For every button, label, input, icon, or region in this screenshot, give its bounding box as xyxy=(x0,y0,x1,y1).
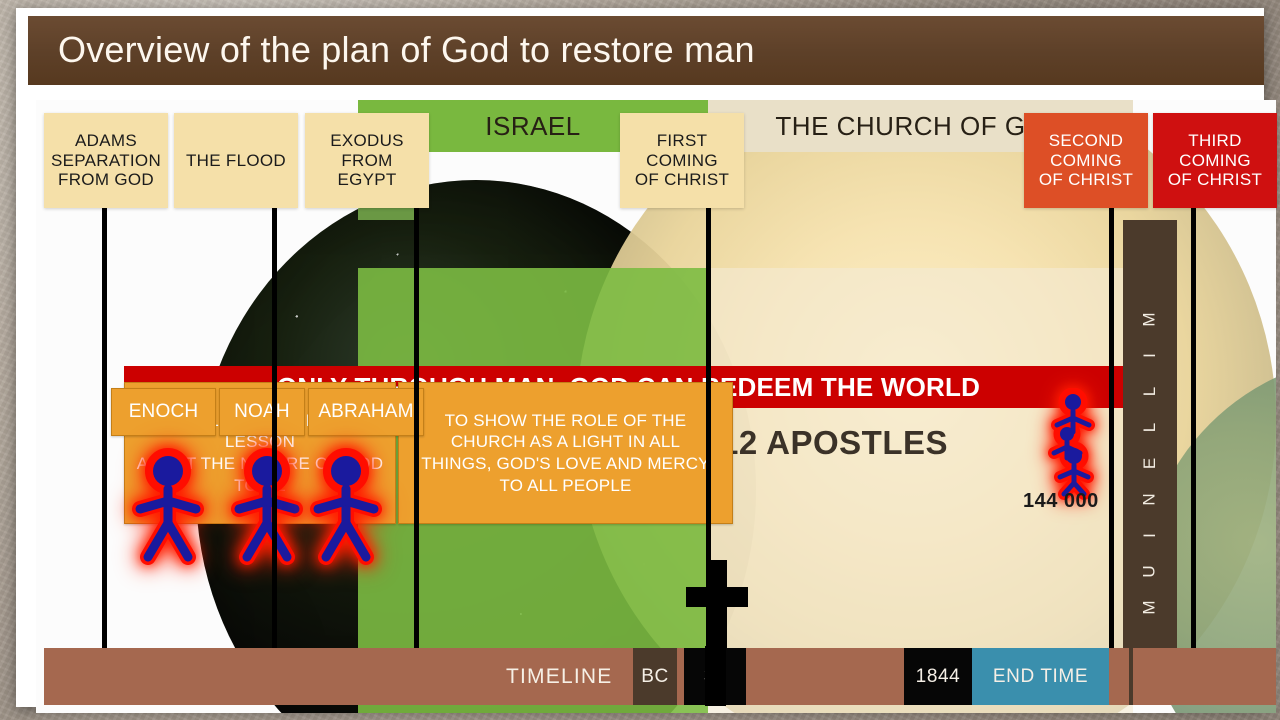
timeline-rule-flood xyxy=(272,128,277,705)
event-label-second-coming-of-christ: SECOND COMING OF CHRIST xyxy=(1039,131,1133,190)
era-label-israel: ISRAEL xyxy=(485,111,581,142)
event-label-third-coming-of-christ: THIRD COMING OF CHRIST xyxy=(1168,131,1262,190)
figure-abraham-icon xyxy=(308,445,384,567)
patriarch-label-abraham: ABRAHAM xyxy=(308,388,424,436)
event-box-first-coming-of-christ[interactable]: FIRST COMING OF CHRIST xyxy=(620,113,744,208)
timeline-rule-second-coming xyxy=(1109,128,1114,705)
millenium-letter: L xyxy=(1140,421,1160,431)
millenium-letter: I xyxy=(1140,352,1160,358)
millenium-letter: N xyxy=(1140,492,1160,505)
patriarch-label-noah: NOAH xyxy=(219,388,305,436)
patriarch-text-noah: NOAH xyxy=(234,400,290,424)
timeline-rule-third-coming xyxy=(1191,128,1196,705)
church-column-top xyxy=(708,268,1133,366)
timeline-segment-1844[interactable]: 1844 xyxy=(904,648,972,705)
figure-noah-icon xyxy=(229,445,305,567)
patriarch-label-enoch: ENOCH xyxy=(111,388,216,436)
timeline-rule-adams xyxy=(102,128,107,705)
timeline-label-end-time: END TIME xyxy=(993,666,1088,688)
event-box-second-coming-of-christ[interactable]: SECOND COMING OF CHRIST xyxy=(1024,113,1148,208)
page-title: Overview of the plan of God to restore m… xyxy=(58,29,755,71)
israel-column-top xyxy=(358,268,708,366)
patriarch-text-enoch: ENOCH xyxy=(129,400,199,424)
millenium-letter: M xyxy=(1140,311,1160,326)
event-label-adams-separation: ADAMS SEPARATION FROM GOD xyxy=(51,131,161,190)
timeline-base-right xyxy=(1133,648,1276,705)
timeline-bar: TIMELINE BC 31 1844 END TIME xyxy=(36,648,1276,705)
millenium-bar: M I L L E N I U M xyxy=(1123,220,1177,705)
event-label-first-coming-of-christ: FIRST COMING OF CHRIST xyxy=(635,131,729,190)
millenium-letter: M xyxy=(1140,599,1160,614)
timeline-title-text: TIMELINE xyxy=(506,665,612,689)
timeline-label-bc: BC xyxy=(641,666,669,688)
purpose-box-church: TO SHOW THE ROLE OF THE CHURCH AS A LIGH… xyxy=(398,382,733,524)
purpose-text-church: TO SHOW THE ROLE OF THE CHURCH AS A LIGH… xyxy=(421,410,709,497)
millenium-letter: L xyxy=(1140,385,1160,395)
slide-title-bar: Overview of the plan of God to restore m… xyxy=(28,16,1264,85)
timeline-rule-exodus xyxy=(414,128,419,705)
event-label-the-flood: THE FLOOD xyxy=(186,151,286,171)
sealed-count-label: 144 000 xyxy=(1023,490,1099,513)
event-box-adams-separation[interactable]: ADAMS SEPARATION FROM GOD xyxy=(44,113,168,208)
timeline-segment-end-time[interactable]: END TIME xyxy=(972,648,1109,705)
group-label-apostles: 12 APOSTLES xyxy=(720,424,948,462)
timeline-title: TIMELINE xyxy=(506,648,612,705)
figure-144000-icon xyxy=(1045,388,1101,505)
patriarch-text-abraham: ABRAHAM xyxy=(318,400,413,424)
event-box-third-coming-of-christ[interactable]: THIRD COMING OF CHRIST xyxy=(1153,113,1277,208)
timeline-segment-bc[interactable]: BC xyxy=(633,648,677,705)
millenium-letter: U xyxy=(1140,564,1160,577)
slide: Overview of the plan of God to restore m… xyxy=(16,8,1264,707)
timeline-label-1844: 1844 xyxy=(916,666,961,688)
event-box-the-flood[interactable]: THE FLOOD xyxy=(174,113,298,208)
timeline-rule-first-coming xyxy=(706,128,711,705)
era-label-church: THE CHURCH OF GOD xyxy=(775,111,1065,142)
millenium-letter: I xyxy=(1140,532,1160,538)
millenium-letter: E xyxy=(1140,456,1160,468)
event-box-exodus-from-egypt[interactable]: EXODUS FROM EGYPT xyxy=(305,113,429,208)
event-label-exodus-from-egypt: EXODUS FROM EGYPT xyxy=(330,131,404,190)
figure-enoch-icon xyxy=(130,445,206,567)
cross-overlap-icon xyxy=(684,646,746,711)
